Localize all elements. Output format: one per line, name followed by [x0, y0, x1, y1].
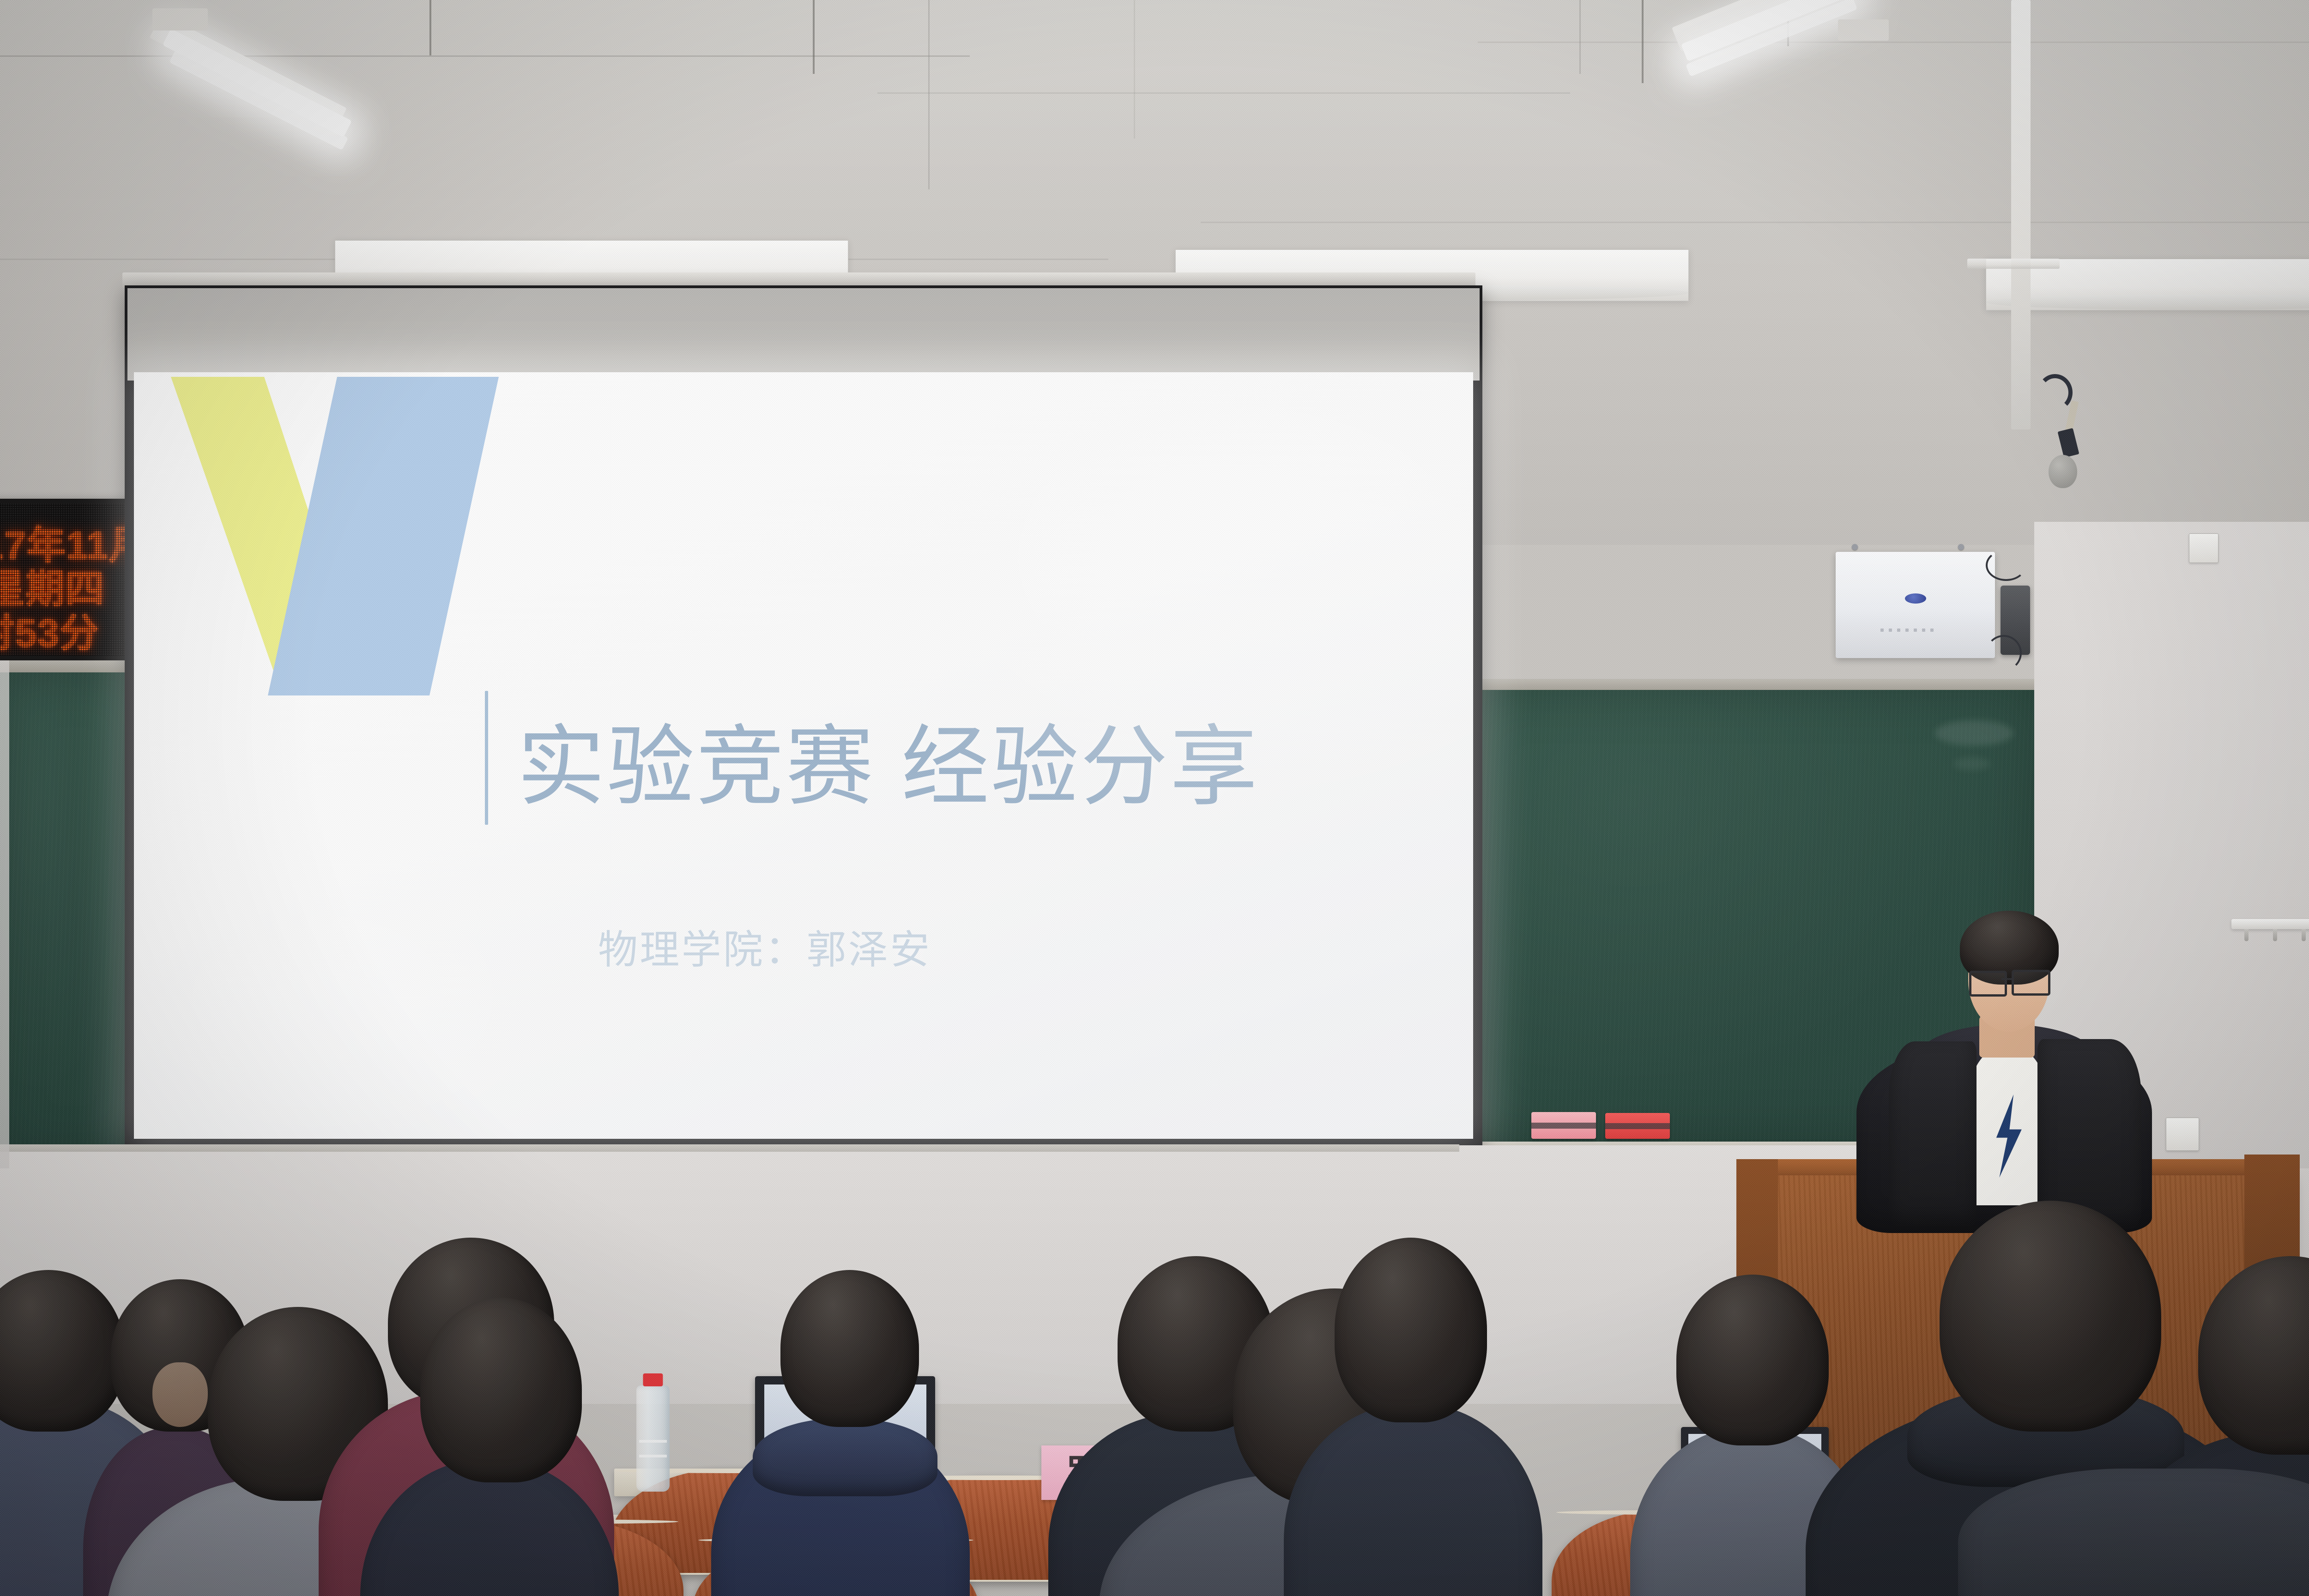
bottle-ring	[639, 1455, 667, 1457]
chalk-smudge	[1935, 720, 2013, 746]
ceiling-seam	[1579, 0, 1581, 74]
audience-hair	[780, 1270, 919, 1427]
presenter-jacket-right-panel	[2037, 1039, 2141, 1228]
ceiling-seam	[1478, 42, 2309, 43]
router-screw	[1852, 544, 1858, 550]
conduit-pipe	[1967, 259, 2060, 269]
screen-glare	[134, 788, 642, 1139]
router-screw	[1958, 544, 1964, 550]
classroom-scene: 2017年11月 星期四 18时53分 实验竞赛 经验分享 物理学院	[0, 0, 2309, 1596]
conduit-pipe	[2011, 0, 2031, 429]
chalk-smudge	[1953, 757, 1990, 770]
coat-hook-rail[interactable]	[2231, 919, 2309, 929]
light-hanger	[1642, 0, 1644, 83]
audience-hair	[1676, 1275, 1829, 1445]
ceiling-seam	[877, 92, 1570, 94]
wall-socket-low[interactable]	[2166, 1118, 2199, 1151]
projection-screen: 实验竞赛 经验分享 物理学院：郭泽安	[125, 285, 1482, 1154]
ceiling-seam	[1134, 0, 1135, 139]
router-cable	[1986, 635, 2022, 671]
audience-hood	[753, 1418, 937, 1496]
screen-dead-area	[127, 288, 1480, 381]
light-mount	[152, 8, 208, 30]
light-mount	[1838, 19, 1889, 41]
router-logo	[1905, 593, 1926, 604]
wall-trim	[0, 1144, 1459, 1152]
wall-outlet[interactable]	[2189, 533, 2218, 563]
slide-title: 实验竞赛 经验分享	[517, 695, 1259, 822]
blackboard-eraser[interactable]	[1605, 1113, 1670, 1139]
wall-router[interactable]	[1836, 552, 1995, 658]
led-clock-line-time: 18时53分	[0, 602, 99, 658]
audience-hair	[1940, 1201, 2161, 1432]
presenter-glasses	[2012, 970, 2050, 996]
left-wall-edge	[0, 660, 9, 1168]
presenter-glasses	[1969, 971, 2007, 997]
ceiling-microphone	[2049, 455, 2077, 488]
slide-logo-blue-wedge	[268, 377, 499, 695]
water-bottle[interactable]	[636, 1385, 670, 1492]
presenter-glasses-bridge	[2001, 978, 2013, 980]
light-hanger	[813, 0, 815, 74]
light-hanger	[429, 0, 431, 55]
bottle-ring	[639, 1440, 667, 1443]
ceiling-seam	[928, 0, 930, 189]
audience-hair	[1335, 1238, 1487, 1422]
presenter	[1861, 901, 2147, 1196]
slide-surface: 实验竞赛 经验分享 物理学院：郭泽安	[134, 372, 1473, 1139]
chalkboard-frame	[1457, 679, 2037, 690]
audience-face	[152, 1362, 208, 1427]
router-led-row	[1880, 629, 1934, 632]
ceiling-microphone-hook	[2037, 374, 2073, 411]
ceiling-seam	[1201, 222, 2309, 223]
slide-title-rule	[485, 691, 488, 825]
slide-subtitle: 物理学院：郭泽安	[598, 917, 931, 975]
ceiling-seam	[0, 55, 970, 57]
bottle-cap	[643, 1373, 663, 1386]
audience-hair	[420, 1298, 582, 1482]
router-cable	[1986, 550, 2026, 581]
led-clock-display: 2017年11月 星期四 18时53分	[0, 499, 139, 660]
presenter-jacket-left-panel	[1889, 1041, 1977, 1226]
blackboard-eraser[interactable]	[1531, 1112, 1596, 1139]
